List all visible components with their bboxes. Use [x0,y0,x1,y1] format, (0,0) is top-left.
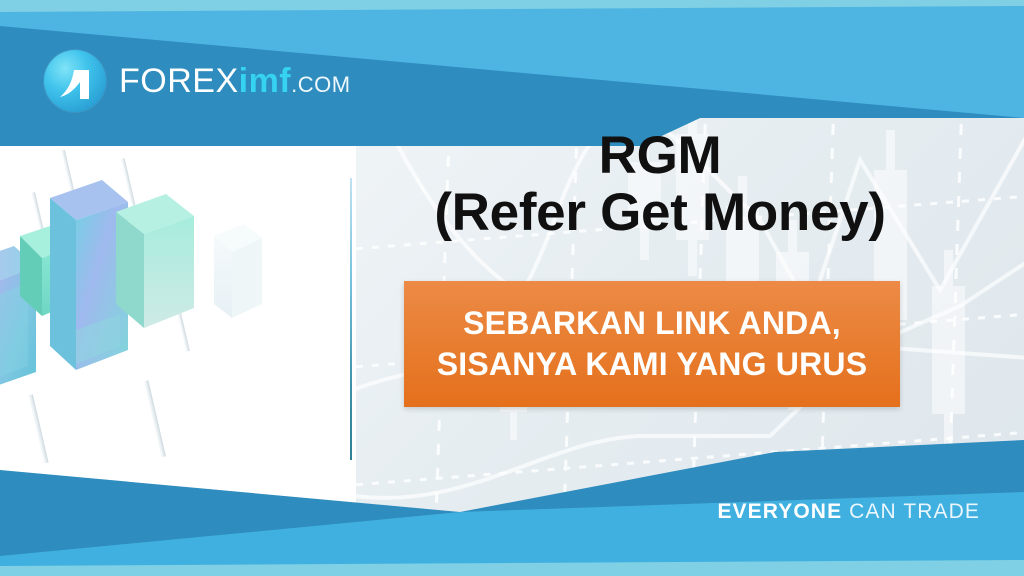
footer-tagline-bold: EVERYONE [717,500,842,523]
brand-name-forex: FOREX [119,62,239,100]
callout-banner-line2: SISANYA KAMI YANG URUS [437,344,868,385]
slide-canvas: FOREXimf.COM RGM (Refer Get Money) SEBAR… [0,0,1024,576]
brand-name-imf: imf [239,62,292,100]
vertical-divider [350,178,352,460]
page-title: RGM (Refer Get Money) [380,128,940,241]
candle-5-ghost [214,224,262,318]
candlestick-illustration [0,150,318,480]
page-title-line1: RGM [599,126,722,185]
brand-logo[interactable]: FOREXimf.COM [44,50,351,112]
page-title-line2: (Refer Get Money) [380,185,940,242]
footer-tagline-regular: CAN TRADE [842,500,980,523]
callout-banner-line1: SEBARKAN LINK ANDA, [463,303,841,344]
callout-banner: SEBARKAN LINK ANDA, SISANYA KAMI YANG UR… [404,281,900,407]
footer-tagline: EVERYONE CAN TRADE [717,500,980,524]
brand-name-com: .COM [291,72,350,97]
arrow-up-right-circle-icon [44,50,106,112]
brand-wordmark: FOREXimf.COM [119,64,351,98]
